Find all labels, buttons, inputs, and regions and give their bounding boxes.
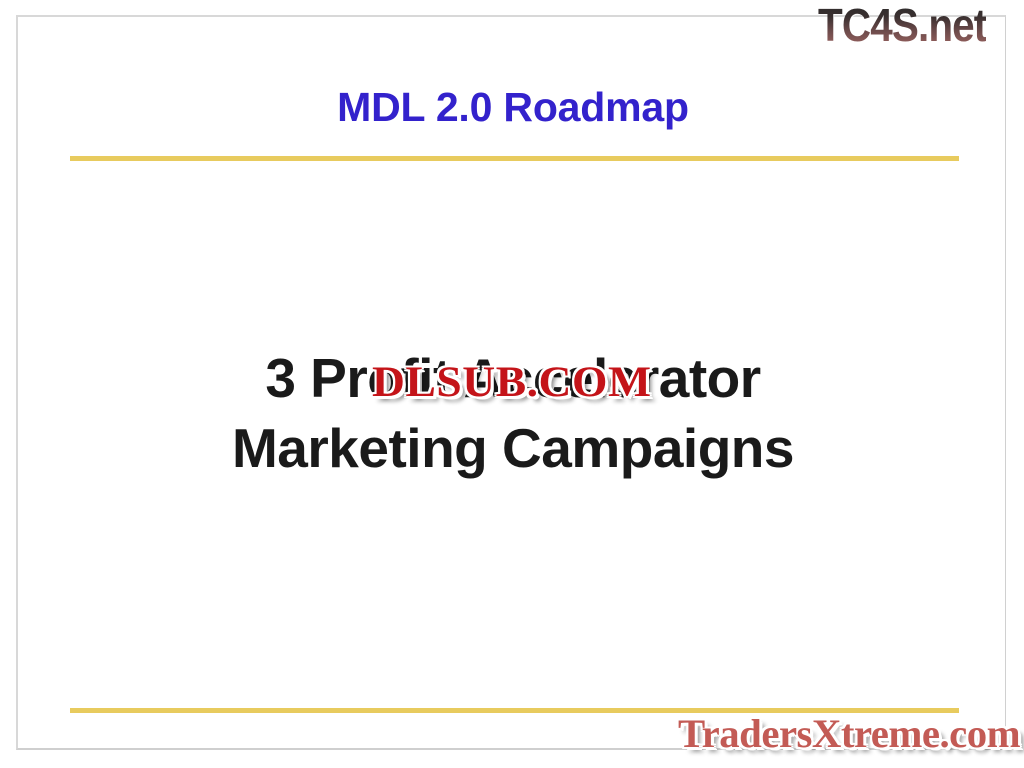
slide-title: MDL 2.0 Roadmap	[18, 85, 1008, 131]
divider-rule-top	[70, 156, 959, 161]
watermark-dlsub-com: DLSUB.COM	[372, 361, 652, 404]
watermark-tradersxtreme-com: TradersXtreme.com	[678, 714, 1020, 754]
slide-page: { "slide": { "title": "MDL 2.0 Roadmap",…	[0, 0, 1024, 768]
slide-body-line-2: Marketing Campaigns	[18, 413, 1008, 483]
watermark-tc4s-net: TC4S.net	[818, 2, 986, 48]
